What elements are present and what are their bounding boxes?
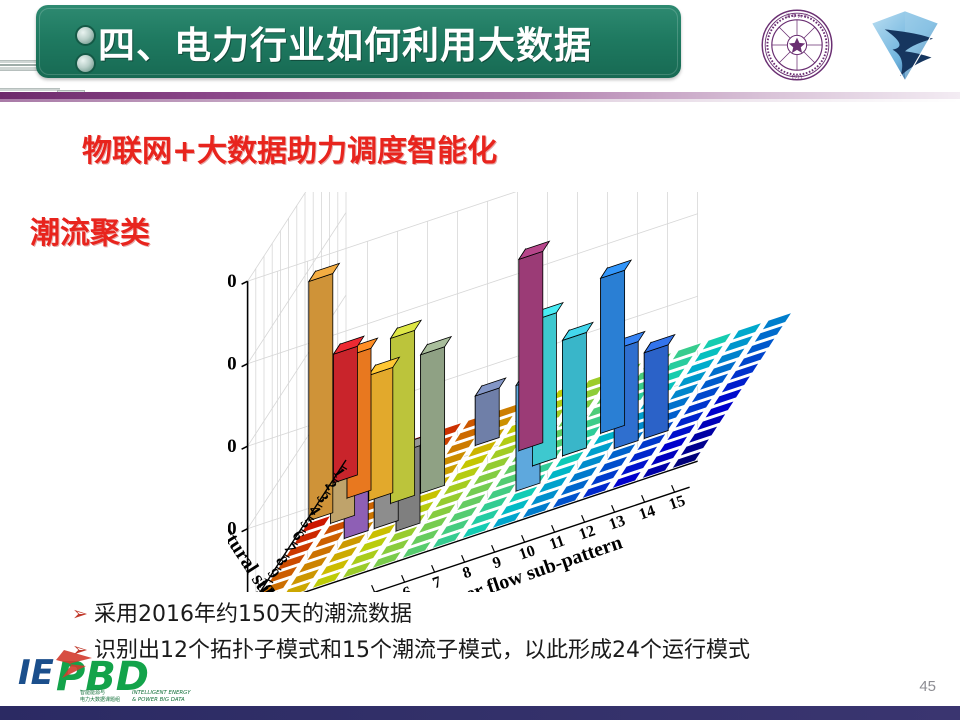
chart-side-label: 潮流聚类 [30, 208, 150, 252]
slide: 四、电力行业如何利用大数据 清 华 大 学 1911 [0, 0, 960, 720]
slide-header: 四、电力行业如何利用大数据 清 华 大 学 1911 [0, 0, 960, 92]
list-item: ➢ 采用2016年约150天的潮流数据 [72, 600, 952, 630]
banner-rivet-bottom-icon [75, 53, 96, 74]
iepbd-footer-logo-icon: IE PBD 智能能源与 电力大数据课题组 INTELLIGENT ENERGY… [16, 644, 212, 706]
header-divider-soft [0, 99, 960, 102]
page-number: 45 [919, 678, 936, 695]
svg-text:15: 15 [667, 492, 688, 513]
svg-text:8: 8 [461, 564, 474, 583]
chart-canvas: 0500100015002000123456789101112Structura… [228, 192, 794, 592]
footer-logo-en1: INTELLIGENT ENERGY [132, 690, 191, 696]
section-subtitle: 物联网+大数据助力调度智能化 [82, 126, 497, 170]
footer-logo-cn1: 智能能源与 [80, 689, 105, 696]
svg-text:1911: 1911 [791, 74, 802, 80]
svg-text:9: 9 [491, 554, 504, 573]
page-title: 四、电力行业如何利用大数据 [98, 15, 592, 69]
header-banner: 四、电力行业如何利用大数据 [36, 5, 681, 78]
header-divider [0, 92, 960, 99]
footer-logo-cn2: 电力大数据课题组 [80, 696, 120, 703]
svg-text:7: 7 [431, 574, 444, 592]
tsinghua-university-seal-icon: 清 华 大 学 1911 [760, 8, 834, 82]
svg-text:6: 6 [401, 584, 414, 592]
footer-logo-en2: & POWER BIG DATA [132, 697, 185, 703]
footer-bar [0, 706, 960, 720]
svg-text:14: 14 [637, 502, 658, 523]
bullet-arrow-icon: ➢ [72, 600, 94, 628]
svg-text:1500: 1500 [228, 354, 237, 375]
iepbd-shield-logo-icon [866, 6, 944, 84]
svg-text:2000: 2000 [228, 271, 237, 292]
banner-rivet-top-icon [75, 25, 96, 46]
footer-logo-mark: IE [18, 653, 54, 693]
svg-text:1000: 1000 [228, 436, 237, 457]
svg-text:13: 13 [607, 512, 628, 533]
bullet-text: 采用2016年约150天的潮流数据 [94, 600, 412, 630]
power-flow-clustering-3d-bar-chart: 0500100015002000123456789101112Structura… [228, 192, 794, 592]
